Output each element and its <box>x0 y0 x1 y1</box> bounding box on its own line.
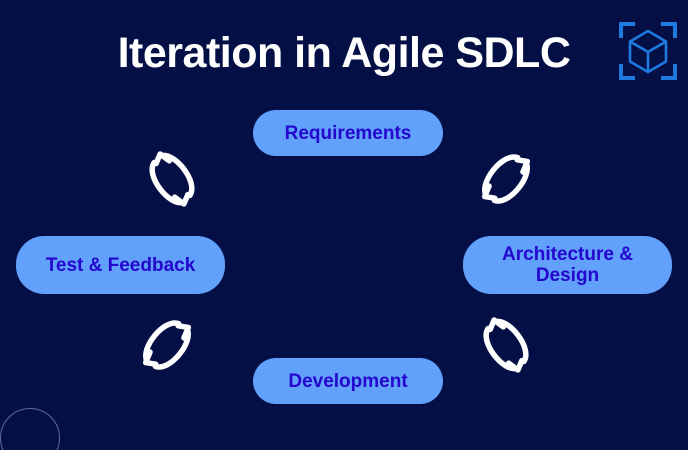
cube-scan-logo-icon <box>619 22 677 80</box>
node-test-feedback[interactable]: Test & Feedback <box>16 236 225 294</box>
node-requirements-label: Requirements <box>285 123 412 144</box>
cycle-arrows-icon <box>467 306 545 384</box>
node-development[interactable]: Development <box>253 358 443 404</box>
node-architecture-design-label: Architecture & Design <box>473 244 662 286</box>
header: Iteration in Agile SDLC <box>0 0 688 105</box>
page-title: Iteration in Agile SDLC <box>0 27 688 79</box>
cycle-arrows-icon <box>133 140 211 218</box>
corner-arc-decoration <box>0 408 60 450</box>
cycle-arrows-icon <box>128 306 206 384</box>
cycle-arrows-icon <box>467 140 545 218</box>
node-development-label: Development <box>288 371 407 392</box>
node-architecture-design[interactable]: Architecture & Design <box>463 236 672 294</box>
node-requirements[interactable]: Requirements <box>253 110 443 156</box>
diagram-canvas: Iteration in Agile SDLC Requirements Arc… <box>0 0 688 450</box>
node-test-feedback-label: Test & Feedback <box>46 255 196 276</box>
